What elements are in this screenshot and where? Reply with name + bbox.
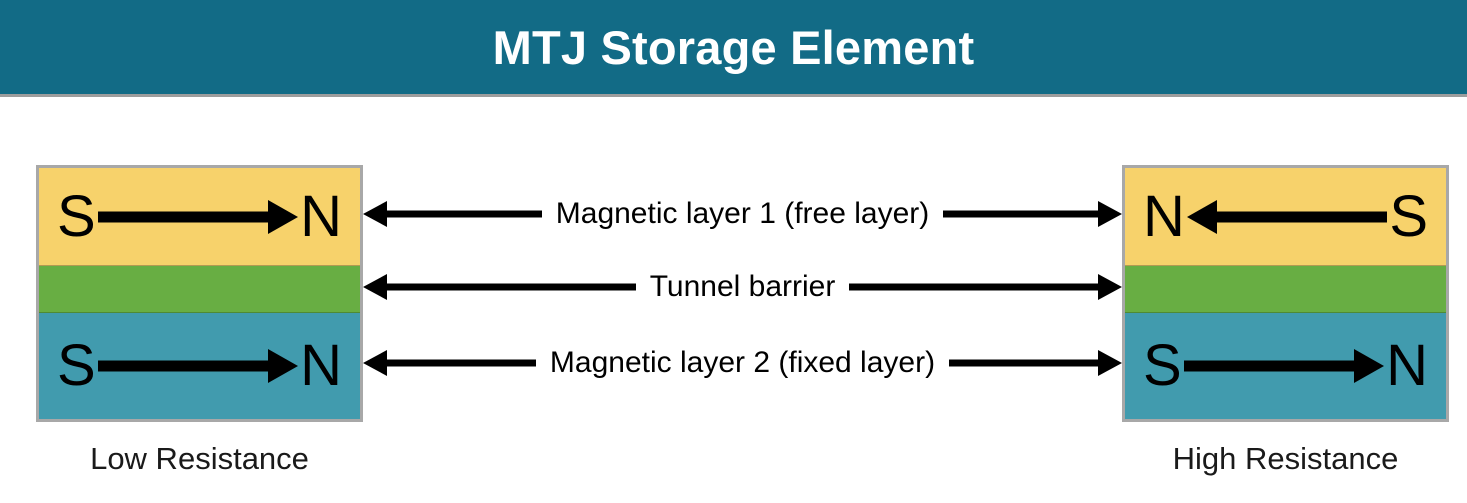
mtj-stack-high-resistance: N S S N [1122,165,1449,422]
magnetization-row-fixed-left: S N [39,313,360,419]
caption-low-resistance: Low Resistance [36,440,363,477]
layer-free-right: N S [1125,168,1446,266]
magnetization-row-fixed-right: S N [1125,313,1446,419]
pole-start-fixed-right: S [1143,337,1182,395]
pole-end-free-right: S [1389,188,1428,246]
pole-end-free-left: N [300,188,342,246]
callout-label-free-layer: Magnetic layer 1 (free layer) [542,199,943,229]
arrow-right-icon [849,275,1122,299]
pole-start-fixed-left: S [57,337,96,395]
layer-fixed-right: S N [1125,313,1446,419]
layer-free-left: S N [39,168,360,266]
magnetization-row-free-right: N S [1125,168,1446,265]
callout-group: Magnetic layer 1 (free layer) Tunnel bar… [363,165,1122,422]
callout-label-fixed-layer: Magnetic layer 2 (fixed layer) [536,348,949,378]
arrow-left-icon [363,275,636,299]
magnetization-arrow-right-icon [98,202,298,232]
callout-fixed-layer: Magnetic layer 2 (fixed layer) [363,310,1122,416]
callout-tunnel-barrier: Tunnel barrier [363,263,1122,310]
magnetization-arrow-left-icon [1187,202,1387,232]
pole-start-free-left: S [57,188,96,246]
pole-end-fixed-right: N [1386,337,1428,395]
magnetization-arrow-right-icon [1184,351,1384,381]
layer-barrier-left [39,266,360,313]
arrow-left-icon [363,351,536,375]
header-banner: MTJ Storage Element [0,0,1467,97]
page-title: MTJ Storage Element [493,24,975,71]
callout-label-tunnel-barrier: Tunnel barrier [636,272,850,302]
magnetization-arrow-right-icon [98,351,298,381]
arrow-left-icon [363,202,542,226]
pole-start-free-right: N [1143,188,1185,246]
arrow-right-icon [943,202,1122,226]
pole-end-fixed-left: N [300,337,342,395]
caption-high-resistance: High Resistance [1122,440,1449,477]
layer-fixed-left: S N [39,313,360,419]
callout-free-layer: Magnetic layer 1 (free layer) [363,165,1122,263]
mtj-stack-low-resistance: S N S N [36,165,363,422]
magnetization-row-free-left: S N [39,168,360,265]
arrow-right-icon [949,351,1122,375]
layer-barrier-right [1125,266,1446,313]
